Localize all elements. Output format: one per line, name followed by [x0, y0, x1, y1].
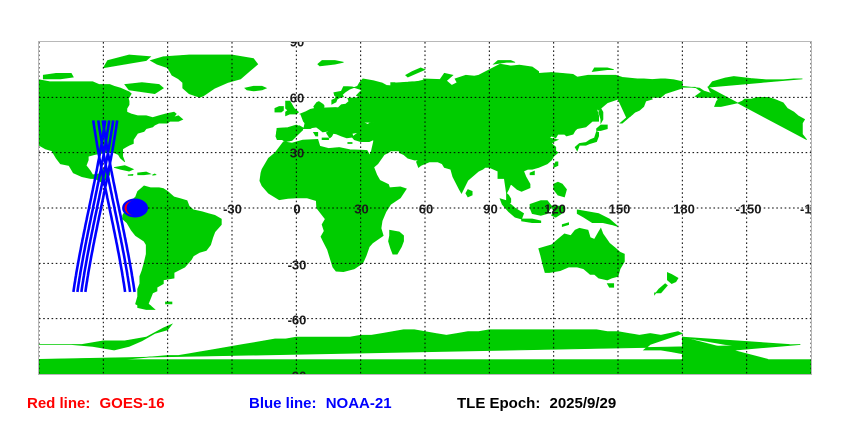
- satellite-track-page: -300306090120150180-150-120-90-609060300…: [0, 0, 850, 425]
- legend-epoch-value: 2025/9/29: [550, 395, 617, 412]
- legend-blue-value: NOAA-21: [326, 395, 392, 412]
- lat-tick-2: 30: [290, 147, 304, 160]
- lon-tick-6: 150: [609, 203, 631, 216]
- lat-tick-1: 60: [290, 91, 304, 104]
- legend-blue-key: Blue line:: [249, 395, 317, 412]
- lon-tick-8: -150: [735, 203, 761, 216]
- lon-tick-4: 90: [483, 203, 497, 216]
- legend-epoch-key: TLE Epoch:: [457, 395, 540, 412]
- lat-tick-0: 90: [290, 41, 304, 49]
- lon-tick-2: 30: [354, 203, 368, 216]
- lon-tick-5: 120: [544, 203, 566, 216]
- legend-item-tle-epoch: TLE Epoch: 2025/9/29: [457, 393, 616, 415]
- lon-tick-7: 180: [673, 203, 695, 216]
- lat-tick-4: -30: [288, 258, 307, 271]
- legend-red-value: GOES-16: [100, 395, 165, 412]
- legend: Red line: GOES-16 Blue line: NOAA-21 TLE…: [0, 393, 850, 425]
- axis-label-layer: -300306090120150180-150-120-90-609060300…: [39, 42, 811, 374]
- lat-tick-5: -60: [288, 314, 307, 327]
- lat-tick-3: 0: [293, 203, 300, 216]
- lon-tick-3: 60: [419, 203, 433, 216]
- lat-tick-6: -90: [288, 370, 307, 376]
- legend-red-key: Red line:: [27, 395, 90, 412]
- world-map: -300306090120150180-150-120-90-609060300…: [38, 41, 812, 375]
- legend-item-goes16: Red line: GOES-16: [27, 393, 165, 415]
- lon-tick-9: -120: [800, 203, 812, 216]
- lon-tick-0: -30: [223, 203, 242, 216]
- legend-item-noaa21: Blue line: NOAA-21: [249, 393, 392, 415]
